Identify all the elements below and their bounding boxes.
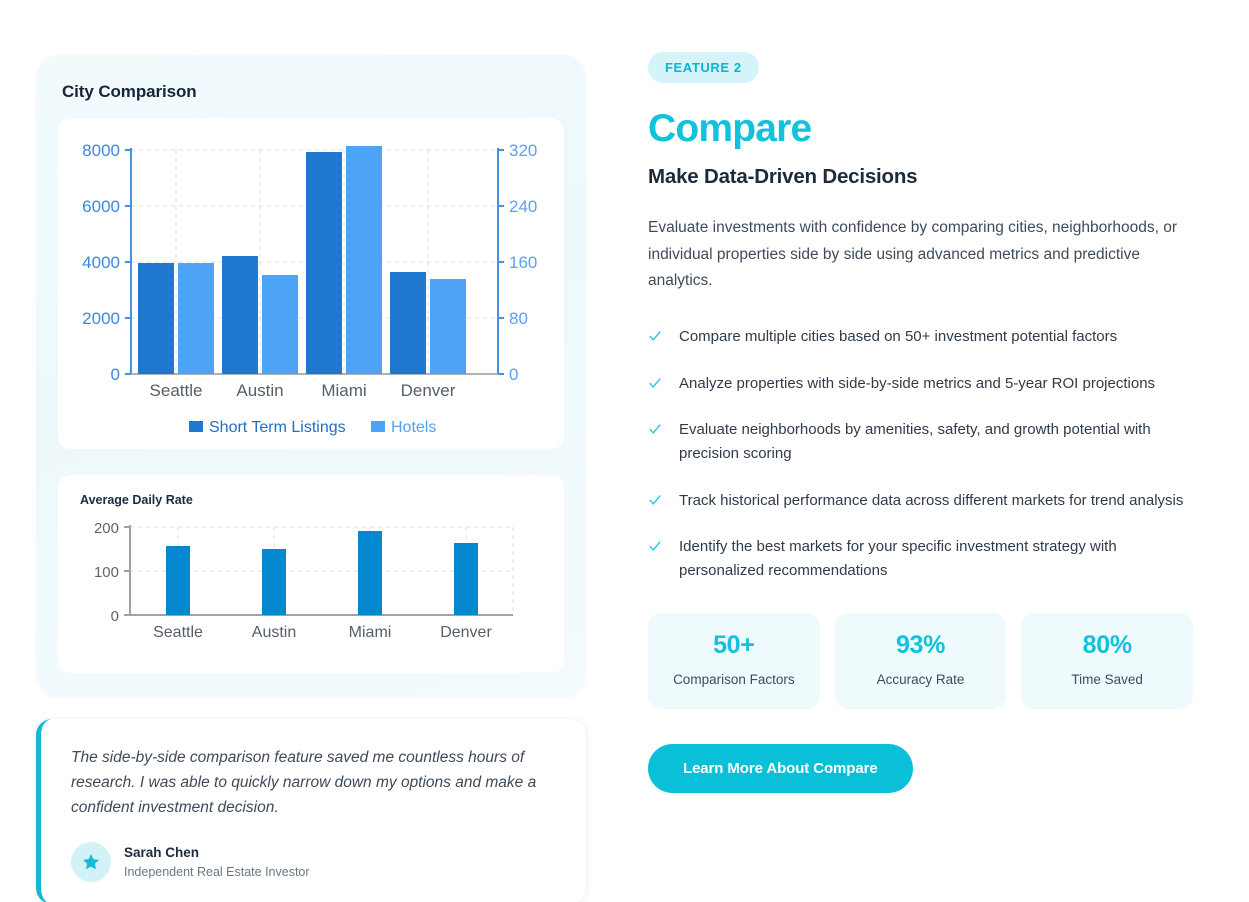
stats-row: 50+ Comparison Factors 93% Accuracy Rate… (648, 613, 1193, 710)
y-axis-labels: 200 100 0 (94, 520, 119, 625)
author-role: Independent Real Estate Investor (124, 863, 310, 882)
check-icon (648, 329, 662, 345)
y-tick-200: 200 (94, 520, 119, 537)
x-label-denver: Denver (440, 624, 492, 641)
legend-label-short-term-listings[interactable]: Short Term Listings (209, 419, 346, 436)
y-tick-8000: 8000 (82, 141, 120, 160)
bar-seattle-average-daily-rate[interactable] (166, 546, 190, 615)
bar-austin-short-term-listings[interactable] (222, 256, 258, 374)
stat-card-comparison-factors: 50+ Comparison Factors (648, 613, 820, 710)
y-tick-0: 0 (111, 365, 120, 384)
page-root: City Comparison (0, 0, 1249, 902)
bar-austin-average-daily-rate[interactable] (262, 549, 286, 615)
description-text: Evaluate investments with confidence by … (648, 215, 1193, 295)
bar-seattle-hotels[interactable] (178, 263, 214, 374)
feature-text: Identify the best markets for your speci… (679, 535, 1193, 582)
stat-card-accuracy-rate: 93% Accuracy Rate (835, 613, 1007, 710)
legend-label-hotels[interactable]: Hotels (391, 419, 436, 436)
feature-text: Compare multiple cities based on 50+ inv… (679, 325, 1117, 349)
bar-miami-average-daily-rate[interactable] (358, 531, 382, 615)
check-icon (648, 493, 662, 509)
avatar (71, 842, 111, 882)
bar-miami-short-term-listings[interactable] (306, 152, 342, 374)
y2-tick-320: 320 (509, 141, 537, 160)
stat-label: Time Saved (1029, 670, 1185, 690)
feature-list: Compare multiple cities based on 50+ inv… (648, 325, 1193, 583)
x-label-miami: Miami (349, 624, 392, 641)
x-axis-labels: Seattle Austin Miami Denver (153, 624, 492, 641)
bar-denver-hotels[interactable] (430, 279, 466, 374)
feature-text: Analyze properties with side-by-side met… (679, 372, 1155, 396)
bar-denver-short-term-listings[interactable] (390, 272, 426, 374)
check-icon (648, 376, 662, 392)
feature-list-item: Evaluate neighborhoods by amenities, saf… (648, 418, 1193, 465)
feature-list-item: Identify the best markets for your speci… (648, 535, 1193, 582)
author-name: Sarah Chen (124, 843, 310, 863)
x-label-seattle: Seattle (153, 624, 203, 641)
stat-label: Comparison Factors (656, 670, 812, 690)
card-title: City Comparison (62, 82, 564, 102)
y-axis-right-labels: 320 240 160 80 0 (509, 141, 537, 384)
stat-value: 50+ (656, 631, 812, 660)
stat-value: 93% (843, 631, 999, 660)
y-tick-0: 0 (111, 608, 119, 625)
y2-tick-0: 0 (509, 365, 518, 384)
feature-text: Track historical performance data across… (679, 489, 1183, 513)
y2-tick-80: 80 (509, 309, 528, 328)
testimonial-quote: The side-by-side comparison feature save… (71, 745, 558, 820)
testimonial-author: Sarah Chen Independent Real Estate Inves… (71, 842, 558, 882)
left-column: City Comparison (36, 55, 586, 902)
city-comparison-card: City Comparison (36, 55, 586, 697)
city-comparison-chart[interactable]: 8000 6000 4000 2000 0 320 240 160 80 0 (66, 128, 566, 413)
y2-tick-160: 160 (509, 253, 537, 272)
legend-swatch-hotels[interactable] (371, 421, 385, 432)
check-icon (648, 422, 662, 438)
y-tick-2000: 2000 (82, 309, 120, 328)
stat-value: 80% (1029, 631, 1185, 660)
x-label-austin: Austin (252, 624, 296, 641)
bar-denver-average-daily-rate[interactable] (454, 543, 478, 615)
feature-list-item: Analyze properties with side-by-side met… (648, 372, 1193, 396)
y-axis-left-labels: 8000 6000 4000 2000 0 (82, 141, 120, 384)
average-daily-rate-chart[interactable]: 200 100 0 Seattle Austin Miami Denver (70, 513, 560, 663)
y-tick-6000: 6000 (82, 197, 120, 216)
chart-panel-average-daily-rate: Average Daily Rate (58, 475, 564, 673)
bar-miami-hotels[interactable] (346, 146, 382, 374)
x-axis-labels: Seattle Austin Miami Denver (150, 381, 456, 400)
y-tick-4000: 4000 (82, 253, 120, 272)
bar-seattle-short-term-listings[interactable] (138, 263, 174, 374)
testimonial-card: The side-by-side comparison feature save… (36, 719, 586, 902)
feature-list-item: Track historical performance data across… (648, 489, 1193, 513)
y2-tick-240: 240 (509, 197, 537, 216)
check-icon (648, 539, 662, 555)
x-label-miami: Miami (321, 381, 366, 400)
stat-label: Accuracy Rate (843, 670, 999, 690)
page-subtitle: Make Data-Driven Decisions (648, 165, 1193, 189)
right-column: FEATURE 2 Compare Make Data-Driven Decis… (648, 52, 1193, 793)
page-title: Compare (648, 107, 1193, 151)
feature-text: Evaluate neighborhoods by amenities, saf… (679, 418, 1193, 465)
star-icon (81, 852, 101, 872)
legend-swatch-short-term-listings[interactable] (189, 421, 203, 432)
x-label-seattle: Seattle (150, 381, 203, 400)
feature-list-item: Compare multiple cities based on 50+ inv… (648, 325, 1193, 349)
x-label-austin: Austin (236, 381, 283, 400)
y-tick-100: 100 (94, 564, 119, 581)
learn-more-button[interactable]: Learn More About Compare (648, 744, 913, 793)
x-label-denver: Denver (401, 381, 456, 400)
bar-austin-hotels[interactable] (262, 275, 298, 374)
chart-panel-city-comparison: 8000 6000 4000 2000 0 320 240 160 80 0 (58, 118, 564, 449)
chart-subtitle: Average Daily Rate (80, 493, 556, 507)
author-info: Sarah Chen Independent Real Estate Inves… (124, 843, 310, 882)
feature-badge: FEATURE 2 (648, 52, 759, 83)
stat-card-time-saved: 80% Time Saved (1021, 613, 1193, 710)
chart-legend: Short Term Listings Hotels (66, 413, 566, 441)
